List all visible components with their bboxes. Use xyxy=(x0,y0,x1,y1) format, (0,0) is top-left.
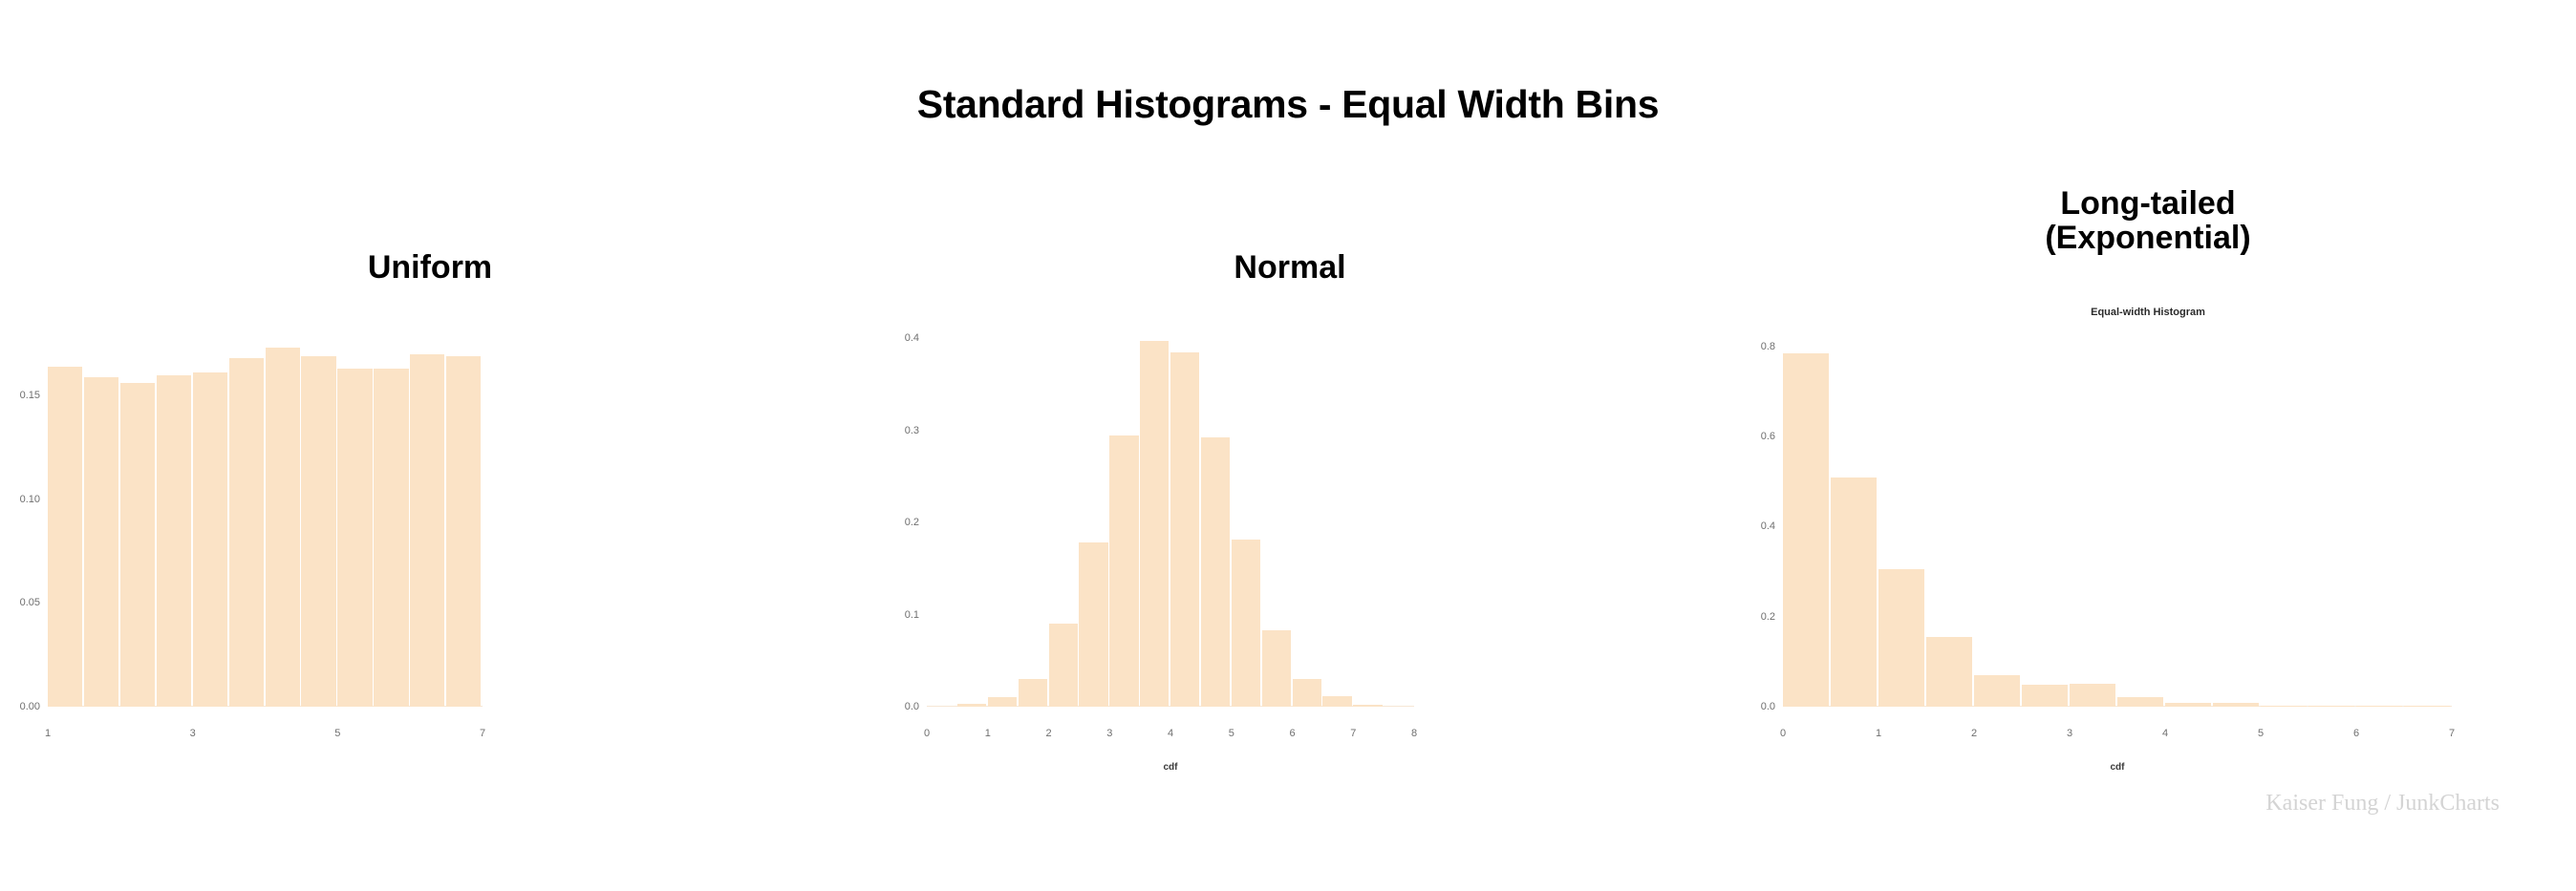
x-axis-tick-label: 2 xyxy=(1971,728,1977,739)
histogram-bar xyxy=(1353,705,1382,707)
y-axis-tick-label: 0.1 xyxy=(860,609,919,621)
x-axis-tick-label: 7 xyxy=(2449,728,2455,739)
x-axis-tick-label: 3 xyxy=(2067,728,2072,739)
histogram-bar xyxy=(1232,540,1260,708)
histogram-bar xyxy=(1170,352,1199,707)
histogram-bar xyxy=(1926,637,1972,707)
x-axis-tick-label: 4 xyxy=(2162,728,2168,739)
histogram-bar xyxy=(1201,437,1230,707)
y-axis-tick-label: 0.00 xyxy=(0,701,40,712)
histogram-bar xyxy=(1878,569,1924,707)
y-axis-tick-label: 0.3 xyxy=(860,425,919,436)
histogram-bar xyxy=(48,367,82,707)
x-axis-label: cdf xyxy=(2111,762,2125,773)
histogram-bar xyxy=(337,369,372,707)
panel-subtitle-longtailed: Equal-width Histogram xyxy=(1720,307,2576,318)
histogram-bar xyxy=(157,375,191,707)
y-axis-tick-label: 0.10 xyxy=(0,494,40,505)
histogram-bar xyxy=(988,697,1017,707)
plot-area-uniform xyxy=(48,344,483,707)
x-axis-tick-label: 6 xyxy=(2353,728,2359,739)
histogram-bar xyxy=(2165,703,2211,707)
histogram-bar xyxy=(2356,706,2402,707)
x-axis-tick-label: 8 xyxy=(1411,728,1417,739)
histogram-bar xyxy=(1783,353,1829,707)
histogram-bar xyxy=(1140,341,1169,707)
histogram-bar xyxy=(446,356,481,707)
histogram-bar xyxy=(1049,624,1078,707)
y-axis-tick-label: 0.4 xyxy=(1720,520,1775,532)
y-axis-tick-label: 0.0 xyxy=(1720,701,1775,712)
histogram-bar xyxy=(2261,706,2307,707)
x-axis-tick-label: 1 xyxy=(1876,728,1881,739)
x-axis-tick-label: 1 xyxy=(985,728,991,739)
x-axis-tick-label: 5 xyxy=(1229,728,1234,739)
x-axis-tick-label: 0 xyxy=(1780,728,1786,739)
x-axis-tick-label: 4 xyxy=(1168,728,1173,739)
histogram-bar xyxy=(1293,679,1321,707)
histogram-bar xyxy=(2404,706,2450,707)
histogram-bar xyxy=(193,372,227,707)
x-axis-tick-label: 1 xyxy=(45,728,51,739)
chart-panel-longtailed: Long-tailed (Exponential) Equal-width Hi… xyxy=(1720,0,2576,891)
panel-title-uniform: Uniform xyxy=(0,250,860,285)
x-axis-tick-label: 3 xyxy=(190,728,196,739)
histogram-bar xyxy=(2022,685,2068,707)
watermark-credit: Kaiser Fung / JunkCharts xyxy=(2265,791,2500,817)
histogram-bar xyxy=(1019,679,1047,707)
histogram-bar xyxy=(229,358,264,707)
histogram-bar xyxy=(2213,703,2259,707)
y-axis-tick-label: 0.15 xyxy=(0,390,40,401)
y-axis-tick-label: 0.2 xyxy=(1720,611,1775,623)
histogram-bar xyxy=(957,704,986,707)
histogram-bar xyxy=(2117,697,2163,707)
histogram-bar xyxy=(2308,706,2354,707)
x-axis-tick-label: 7 xyxy=(480,728,485,739)
x-axis-tick-label: 5 xyxy=(334,728,340,739)
panel-title-normal: Normal xyxy=(860,250,1720,285)
histogram-bar xyxy=(1109,435,1138,707)
histogram-bar xyxy=(120,383,155,707)
histogram-bar xyxy=(1079,542,1107,707)
histogram-bar xyxy=(1831,477,1877,707)
x-axis-tick-label: 5 xyxy=(2258,728,2264,739)
y-axis-tick-label: 0.2 xyxy=(860,517,919,528)
y-axis-tick-label: 0.05 xyxy=(0,597,40,608)
x-axis-tick-label: 7 xyxy=(1350,728,1356,739)
plot-area-normal xyxy=(927,320,1414,707)
histogram-bar xyxy=(1262,630,1291,707)
histogram-bar xyxy=(1974,675,2020,707)
y-axis-tick-label: 0.4 xyxy=(860,332,919,344)
histogram-bar xyxy=(1322,696,1351,707)
histogram-bar xyxy=(301,356,335,707)
histogram-bar xyxy=(2070,684,2115,708)
x-axis-label: cdf xyxy=(1164,762,1178,773)
x-axis-tick-label: 6 xyxy=(1289,728,1295,739)
y-axis-tick-label: 0.6 xyxy=(1720,431,1775,442)
y-axis-tick-label: 0.8 xyxy=(1720,341,1775,352)
x-axis-tick-label: 0 xyxy=(924,728,930,739)
y-axis-tick-label: 0.0 xyxy=(860,701,919,712)
x-axis-tick-label: 3 xyxy=(1106,728,1112,739)
plot-area-longtailed xyxy=(1783,329,2452,707)
histogram-bar xyxy=(410,354,444,707)
histogram-bar xyxy=(84,377,118,707)
histogram-bar xyxy=(266,348,300,707)
chart-panel-normal: Normal 0.00.10.20.30.4012345678cdf xyxy=(860,0,1720,891)
histogram-bar xyxy=(374,369,408,707)
chart-panel-uniform: Uniform 0.000.050.100.151357 xyxy=(0,0,860,891)
x-axis-tick-label: 2 xyxy=(1045,728,1051,739)
panel-title-longtailed: Long-tailed (Exponential) xyxy=(1720,186,2576,255)
